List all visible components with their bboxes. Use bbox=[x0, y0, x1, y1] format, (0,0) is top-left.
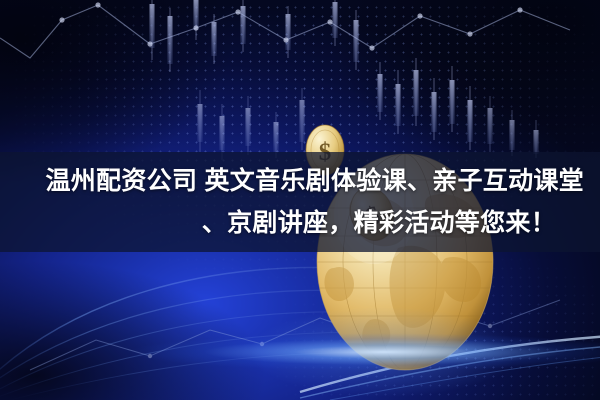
headline-line-1: 温州配资公司 英文音乐剧体验课、亲子互动课堂 bbox=[45, 160, 584, 202]
promo-banner: $ $ 温州配资公司 英文音乐剧体验课、亲子互动课堂 、京剧讲座，精彩活动等您来… bbox=[0, 0, 600, 400]
headline-line-2: 、京剧讲座，精彩活动等您来！ bbox=[202, 202, 556, 244]
headline-text-block: 温州配资公司 英文音乐剧体验课、亲子互动课堂 、京剧讲座，精彩活动等您来！ bbox=[0, 152, 600, 252]
